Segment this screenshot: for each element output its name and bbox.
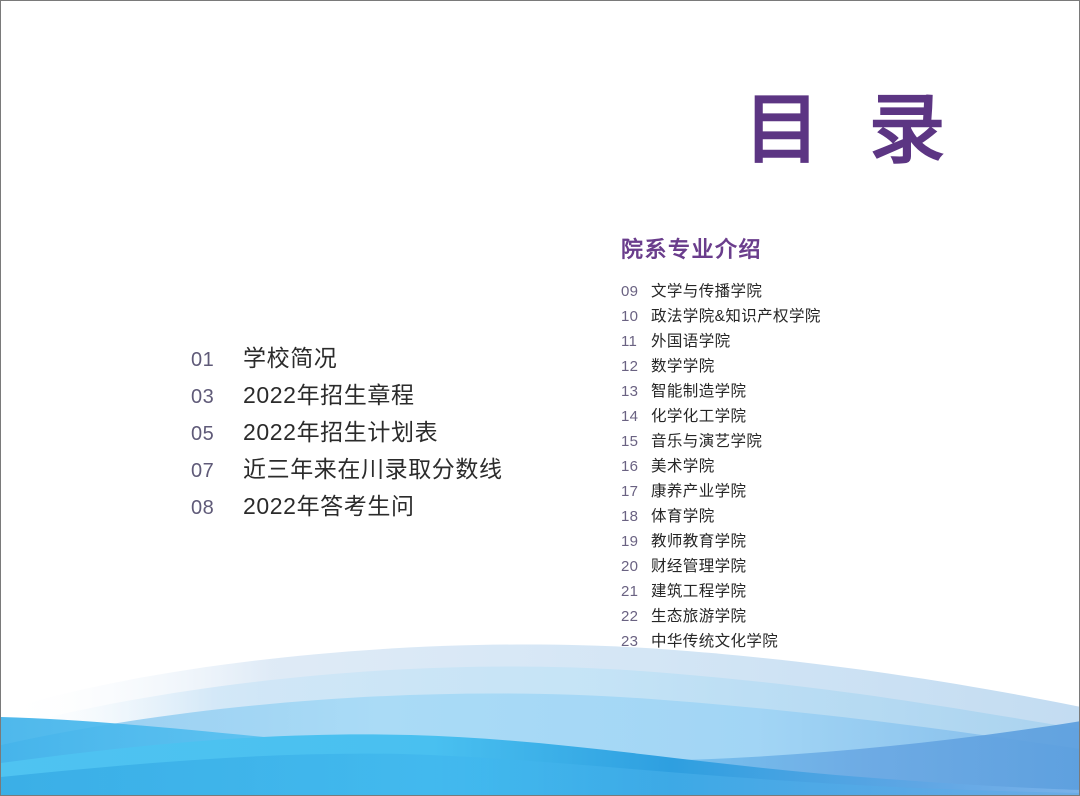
list-item-number: 18: [621, 508, 651, 525]
list-item[interactable]: 20 财经管理学院: [621, 554, 1041, 579]
list-item-number: 11: [621, 333, 651, 350]
list-item-label: 财经管理学院: [651, 554, 746, 576]
toc-right-list: 院系专业介绍 09 文学与传播学院 10 政法学院&知识产权学院 11 外国语学…: [621, 239, 1041, 654]
list-item[interactable]: 16 美术学院: [621, 454, 1041, 479]
list-item-number: 03: [191, 386, 243, 409]
list-item-label: 2022年招生章程: [243, 376, 415, 410]
wave-band-1: [1, 644, 1080, 795]
list-item[interactable]: 14 化学化工学院: [621, 404, 1041, 429]
list-item[interactable]: 19 教师教育学院: [621, 529, 1041, 554]
list-item[interactable]: 11 外国语学院: [621, 329, 1041, 354]
wave-band-4: [1, 717, 1080, 795]
list-item-number: 09: [621, 283, 651, 300]
list-item-label: 2022年招生计划表: [243, 413, 438, 447]
list-item-label: 2022年答考生问: [243, 487, 415, 521]
list-item-label: 政法学院&知识产权学院: [651, 304, 821, 326]
list-item[interactable]: 15 音乐与演艺学院: [621, 429, 1041, 454]
list-item-number: 08: [191, 497, 243, 520]
wave-band-3: [1, 694, 1080, 795]
list-item-number: 21: [621, 583, 651, 600]
list-item-number: 16: [621, 458, 651, 475]
list-item-number: 05: [191, 423, 243, 446]
list-item-number: 07: [191, 460, 243, 483]
list-item-label: 美术学院: [651, 454, 715, 476]
list-item[interactable]: 18 体育学院: [621, 504, 1041, 529]
list-item-number: 17: [621, 483, 651, 500]
list-item[interactable]: 10 政法学院&知识产权学院: [621, 304, 1041, 329]
list-item-number: 10: [621, 308, 651, 325]
list-item-label: 中华传统文化学院: [651, 629, 778, 651]
list-item[interactable]: 03 2022年招生章程: [191, 376, 591, 413]
list-item-number: 14: [621, 408, 651, 425]
list-item[interactable]: 23 中华传统文化学院: [621, 629, 1041, 654]
list-item[interactable]: 21 建筑工程学院: [621, 579, 1041, 604]
list-item-label: 体育学院: [651, 504, 715, 526]
list-item[interactable]: 07 近三年来在川录取分数线: [191, 450, 591, 487]
list-item-number: 01: [191, 349, 243, 372]
list-item-number: 23: [621, 633, 651, 650]
wave-band-2: [1, 666, 1080, 795]
list-item-number: 12: [621, 358, 651, 375]
list-item-label: 生态旅游学院: [651, 604, 746, 626]
section-heading: 院系专业介绍: [621, 239, 1041, 261]
list-item[interactable]: 09 文学与传播学院: [621, 279, 1041, 304]
list-item-label: 文学与传播学院: [651, 279, 762, 301]
list-item-number: 20: [621, 558, 651, 575]
list-item-label: 教师教育学院: [651, 529, 746, 551]
list-item-label: 康养产业学院: [651, 479, 746, 501]
list-item-number: 22: [621, 608, 651, 625]
list-item-label: 音乐与演艺学院: [651, 429, 762, 451]
list-item-label: 建筑工程学院: [651, 579, 746, 601]
toc-left-list: 01 学校简况 03 2022年招生章程 05 2022年招生计划表 07 近三…: [191, 339, 591, 524]
list-item[interactable]: 13 智能制造学院: [621, 379, 1041, 404]
list-item[interactable]: 05 2022年招生计划表: [191, 413, 591, 450]
list-item[interactable]: 17 康养产业学院: [621, 479, 1041, 504]
wave-band-6: [1, 754, 1080, 795]
list-item[interactable]: 12 数学学院: [621, 354, 1041, 379]
list-item-number: 19: [621, 533, 651, 550]
list-item-number: 15: [621, 433, 651, 450]
list-item[interactable]: 01 学校简况: [191, 339, 591, 376]
list-item-number: 13: [621, 383, 651, 400]
list-item[interactable]: 08 2022年答考生问: [191, 487, 591, 524]
list-item-label: 数学学院: [651, 354, 715, 376]
list-item-label: 化学化工学院: [651, 404, 746, 426]
list-item-label: 外国语学院: [651, 329, 731, 351]
list-item-label: 智能制造学院: [651, 379, 746, 401]
list-item-label: 学校简况: [243, 339, 337, 373]
list-item-label: 近三年来在川录取分数线: [243, 450, 503, 484]
slide-page: 目 录 01 学校简况 03 2022年招生章程 05 2022年招生计划表 0…: [0, 0, 1080, 796]
list-item[interactable]: 22 生态旅游学院: [621, 604, 1041, 629]
page-title: 目 录: [1, 93, 1080, 169]
wave-band-5: [1, 734, 1080, 795]
